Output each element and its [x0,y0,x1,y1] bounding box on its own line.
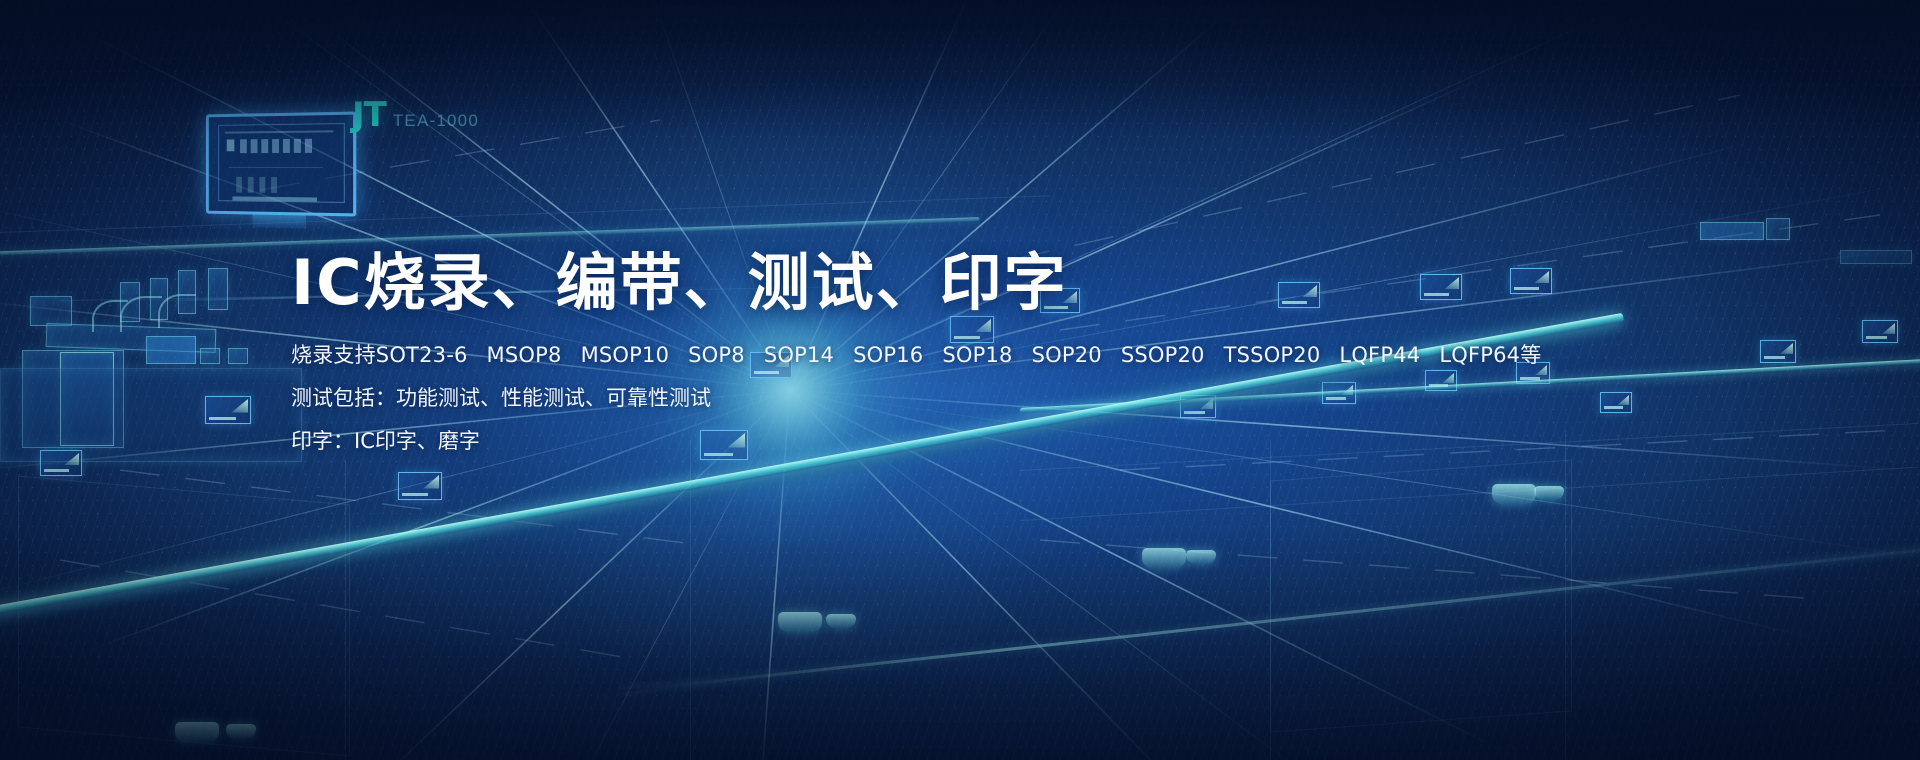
marking-scope-line: 印字：IC印字、磨字 [291,431,1591,452]
package-tssop20: TSSOP20 [1224,345,1321,366]
burn-support-lead: 烧录支持SOT23-6 [291,345,468,366]
package-lqfp64: LQFP64等 [1439,345,1541,366]
hero-banner: JT TEA-1000 [0,0,1920,760]
brand-model-text: TEA-1000 [393,112,479,129]
package-list: 烧录支持SOT23-6 MSOP8 MSOP10 SOP8 SOP14 SOP1… [291,345,1541,366]
monitor-stand [253,212,306,229]
package-sop8: SOP8 [688,345,745,366]
page-title: IC烧录、编带、测试、印字 [291,248,1591,317]
hero-content: IC烧录、编带、测试、印字 烧录支持SOT23-6 MSOP8 MSOP10 S… [291,248,1591,452]
detail-lines: 烧录支持SOT23-6 MSOP8 MSOP10 SOP8 SOP14 SOP1… [291,345,1591,452]
brand-logo-text: JT [352,98,386,132]
monitor-graphic [206,112,356,217]
burn-support-line: 烧录支持SOT23-6 MSOP8 MSOP10 SOP8 SOP14 SOP1… [291,345,1591,366]
package-lqfp44: LQFP44 [1339,345,1420,366]
package-sop16: SOP16 [853,345,923,366]
test-scope-line: 测试包括：功能测试、性能测试、可靠性测试 [291,388,1591,409]
package-sop14: SOP14 [764,345,834,366]
package-ssop20: SSOP20 [1121,345,1205,366]
package-msop10: MSOP10 [581,345,670,366]
monitor-screen [218,123,345,203]
package-sop18: SOP18 [942,345,1012,366]
package-msop8: MSOP8 [487,345,562,366]
brand-logo: JT TEA-1000 [352,98,479,132]
package-sop20: SOP20 [1032,345,1102,366]
